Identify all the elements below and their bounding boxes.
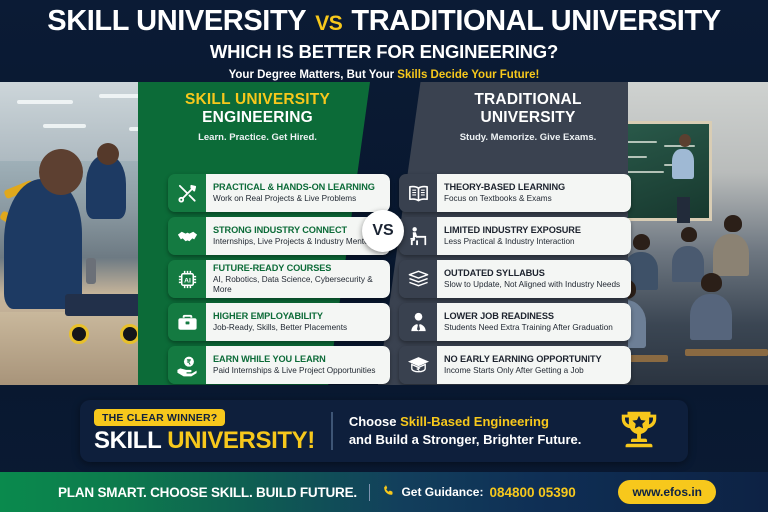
winner-pill: THE CLEAR WINNER? xyxy=(94,409,225,426)
right-subtitle: Study. Memorize. Give Exams. xyxy=(418,132,638,143)
list-item[interactable]: AI FUTURE-READY COURSES AI, Robotics, Da… xyxy=(168,260,390,298)
winner-divider xyxy=(331,412,333,450)
tools-icon xyxy=(168,174,206,212)
list-item-body: EARN WHILE YOU LEARN Paid Internships & … xyxy=(206,346,390,384)
rupee-hand-icon: ₹ xyxy=(168,346,206,384)
subtitle: WHICH IS BETTER FOR ENGINEERING? xyxy=(210,41,558,63)
list-item-title: FUTURE-READY COURSES xyxy=(213,263,383,274)
list-item-sub: Paid Internships & Live Project Opportun… xyxy=(213,366,383,376)
tagline-highlight: Skills Decide Your Future! xyxy=(397,69,539,81)
list-item-body: HIGHER EMPLOYABILITY Job-Ready, Skills, … xyxy=(206,303,390,341)
list-item-body: OUTDATED SYLLABUS Slow to Update, Not Al… xyxy=(437,260,631,298)
list-item-sub: Focus on Textbooks & Exams xyxy=(444,194,624,204)
svg-text:AI: AI xyxy=(184,277,191,284)
list-item-sub: Internships, Live Projects & Industry Me… xyxy=(213,237,383,247)
skill-points-list: PRACTICAL & HANDS-ON LEARNING Work on Re… xyxy=(168,174,390,385)
list-item[interactable]: ₹ NO EARLY EARNING OPPORTUNITY Income St… xyxy=(399,346,631,384)
list-item-sub: Work on Real Projects & Live Problems xyxy=(213,194,383,204)
winner-headline-yellow: UNIVERSITY! xyxy=(167,427,315,454)
comparison-band: SKILL UNIVERSITY ENGINEERING Learn. Prac… xyxy=(0,82,768,385)
list-item-sub: Income Starts Only After Getting a Job xyxy=(444,366,624,376)
list-item-sub: Students Need Extra Training After Gradu… xyxy=(444,323,624,333)
winner-banner: THE CLEAR WINNER? SKILL UNIVERSITY! Choo… xyxy=(80,400,688,462)
vs-badge-label: VS xyxy=(372,222,393,240)
list-item-title: NO EARLY EARNING OPPORTUNITY xyxy=(444,354,624,365)
guidance-label: Get Guidance: xyxy=(401,485,483,499)
list-item-title: HIGHER EMPLOYABILITY xyxy=(213,311,383,322)
main-title: SKILL UNIVERSITY VS TRADITIONAL UNIVERSI… xyxy=(47,6,720,36)
poster-header: SKILL UNIVERSITY VS TRADITIONAL UNIVERSI… xyxy=(0,0,768,82)
list-item-title: OUTDATED SYLLABUS xyxy=(444,268,624,279)
list-item-body: NO EARLY EARNING OPPORTUNITY Income Star… xyxy=(437,346,631,384)
trophy-icon xyxy=(616,406,662,457)
list-item-sub: Less Practical & Industry Interaction xyxy=(444,237,624,247)
list-item-title: LIMITED INDUSTRY EXPOSURE xyxy=(444,225,624,236)
list-item[interactable]: HIGHER EMPLOYABILITY Job-Ready, Skills, … xyxy=(168,303,390,341)
list-item-body: LIMITED INDUSTRY EXPOSURE Less Practical… xyxy=(437,217,631,255)
list-item[interactable]: THEORY-BASED LEARNING Focus on Textbooks… xyxy=(399,174,631,212)
book-stack-icon xyxy=(399,260,437,298)
right-title-line2: UNIVERSITY xyxy=(418,109,638,127)
list-item-title: LOWER JOB READINESS xyxy=(444,311,624,322)
list-item-body: FUTURE-READY COURSES AI, Robotics, Data … xyxy=(206,260,390,298)
open-book-icon xyxy=(399,174,437,212)
winner-left: THE CLEAR WINNER? SKILL UNIVERSITY! xyxy=(94,409,315,453)
vs-badge: VS xyxy=(362,210,404,252)
list-item[interactable]: LIMITED INDUSTRY EXPOSURE Less Practical… xyxy=(399,217,631,255)
right-column-header: TRADITIONAL UNIVERSITY Study. Memorize. … xyxy=(418,91,638,143)
infographic-poster: SKILL UNIVERSITY VS TRADITIONAL UNIVERSI… xyxy=(0,0,768,512)
left-column-header: SKILL UNIVERSITY ENGINEERING Learn. Prac… xyxy=(150,91,365,143)
list-item-body: PRACTICAL & HANDS-ON LEARNING Work on Re… xyxy=(206,174,390,212)
traditional-points-list: THEORY-BASED LEARNING Focus on Textbooks… xyxy=(399,174,631,385)
list-item[interactable]: STRONG INDUSTRY CONNECT Internships, Liv… xyxy=(168,217,390,255)
graduate-cap-icon: ₹ xyxy=(399,346,437,384)
list-item[interactable]: LOWER JOB READINESS Students Need Extra … xyxy=(399,303,631,341)
winner-message-line1-plain: Choose xyxy=(349,414,400,429)
list-item-title: EARN WHILE YOU LEARN xyxy=(213,354,383,365)
winner-message: Choose Skill-Based Engineering and Build… xyxy=(349,413,582,448)
winner-message-line1-highlight: Skill-Based Engineering xyxy=(400,414,549,429)
footer-bar: PLAN SMART. CHOOSE SKILL. BUILD FUTURE. … xyxy=(0,472,768,512)
list-item-title: PRACTICAL & HANDS-ON LEARNING xyxy=(213,182,383,193)
list-item[interactable]: PRACTICAL & HANDS-ON LEARNING Work on Re… xyxy=(168,174,390,212)
list-item-sub: Job-Ready, Skills, Better Placements xyxy=(213,323,383,333)
title-skill-university: SKILL UNIVERSITY xyxy=(47,6,306,36)
list-item-title: STRONG INDUSTRY CONNECT xyxy=(213,225,383,236)
desk-person-icon xyxy=(399,217,437,255)
left-title-line1: SKILL UNIVERSITY xyxy=(150,91,365,109)
website-button[interactable]: www.efos.in xyxy=(618,480,716,504)
handshake-icon xyxy=(168,217,206,255)
winner-headline: SKILL UNIVERSITY! xyxy=(94,429,315,453)
title-traditional-university: TRADITIONAL UNIVERSITY xyxy=(351,6,720,36)
list-item-body: LOWER JOB READINESS Students Need Extra … xyxy=(437,303,631,341)
list-item-body: THEORY-BASED LEARNING Focus on Textbooks… xyxy=(437,174,631,212)
list-item-sub: Slow to Update, Not Aligned with Industr… xyxy=(444,280,624,290)
svg-text:₹: ₹ xyxy=(186,358,191,366)
tagline-plain: Your Degree Matters, But Your xyxy=(229,69,398,81)
phone-icon xyxy=(382,484,395,500)
ai-chip-icon: AI xyxy=(168,260,206,298)
footer-contact[interactable]: Get Guidance: 084800 05390 xyxy=(382,484,575,500)
list-item-sub: AI, Robotics, Data Science, Cybersecurit… xyxy=(213,275,383,295)
right-title-line1: TRADITIONAL xyxy=(418,91,638,109)
person-tie-icon xyxy=(399,303,437,341)
list-item[interactable]: ₹ EARN WHILE YOU LEARN Paid Internships … xyxy=(168,346,390,384)
list-item-title: THEORY-BASED LEARNING xyxy=(444,182,624,193)
winner-message-line2: and Build a Stronger, Brighter Future. xyxy=(349,432,582,447)
list-item[interactable]: OUTDATED SYLLABUS Slow to Update, Not Al… xyxy=(399,260,631,298)
left-title-line2: ENGINEERING xyxy=(150,109,365,127)
winner-headline-white: SKILL xyxy=(94,427,161,454)
title-vs: VS xyxy=(315,13,342,35)
left-subtitle: Learn. Practice. Get Hired. xyxy=(150,132,365,143)
tagline: Your Degree Matters, But Your Skills Dec… xyxy=(229,69,540,81)
briefcase-icon xyxy=(168,303,206,341)
footer-slogan: PLAN SMART. CHOOSE SKILL. BUILD FUTURE. xyxy=(58,485,357,500)
footer-divider xyxy=(369,484,371,501)
svg-text:₹: ₹ xyxy=(416,366,420,373)
phone-number[interactable]: 084800 05390 xyxy=(489,485,575,500)
